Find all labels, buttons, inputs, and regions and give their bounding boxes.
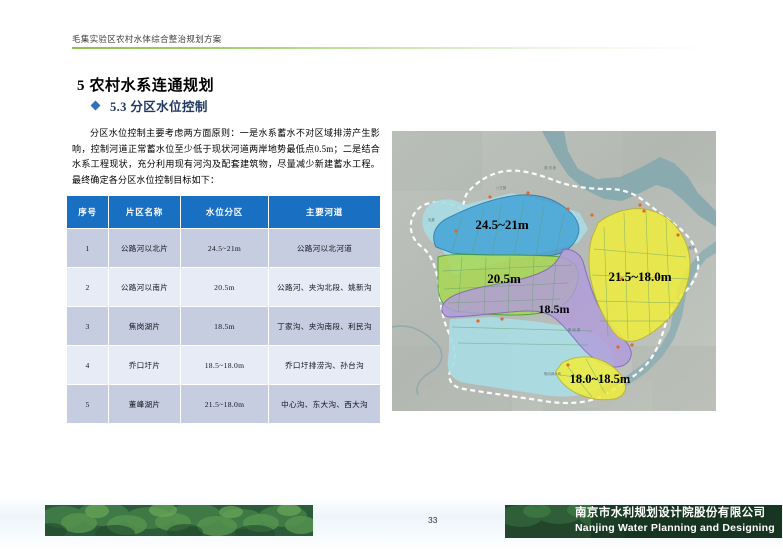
cell-name: 焦岗湖片 <box>109 307 181 346</box>
cell-level: 18.5m <box>181 307 269 346</box>
table-row: 2 公路河以南片 20.5m 公路河、夹沟北段、姚新沟 <box>67 268 381 307</box>
document-running-header: 毛集实验区农村水体综合整治规划方案 <box>72 33 712 49</box>
cell-no: 5 <box>67 385 109 424</box>
section-heading: 5 农村水系连通规划 <box>77 74 214 95</box>
cell-name: 董峰湖片 <box>109 385 181 424</box>
header-rule <box>72 47 712 49</box>
water-level-zone-table-wrapper: 序号 片区名称 水位分区 主要河道 1 公路河以北片 24.5~21m 公路河以… <box>66 195 380 424</box>
foliage-banner-left <box>45 505 313 536</box>
water-level-zone-table: 序号 片区名称 水位分区 主要河道 1 公路河以北片 24.5~21m 公路河以… <box>66 195 381 424</box>
cell-level: 18.5~18.0m <box>181 346 269 385</box>
zone-label-21-5-18-0m: 21.5~18.0m <box>608 269 671 284</box>
cell-rivers: 公路河以北河道 <box>269 229 381 268</box>
company-identity-block: 南京市水利规划设计院股份有限公司 Nanjing Water Planning … <box>575 506 780 535</box>
cell-rivers: 丁家沟、夹沟南段、利民沟 <box>269 307 381 346</box>
table-row: 1 公路河以北片 24.5~21m 公路河以北河道 <box>67 229 381 268</box>
cell-level: 21.5~18.0m <box>181 385 269 424</box>
running-title: 毛集实验区农村水体综合整治规划方案 <box>72 33 712 45</box>
zone-label-18-5m: 18.5m <box>539 302 570 316</box>
page-number: 33 <box>428 515 437 525</box>
zone-label-20-5m: 20.5m <box>487 271 521 286</box>
svg-text:淮 河 段: 淮 河 段 <box>544 165 557 170</box>
table-header-no: 序号 <box>67 196 109 229</box>
cell-rivers: 公路河、夹沟北段、姚新沟 <box>269 268 381 307</box>
table-header-level: 水位分区 <box>181 196 269 229</box>
cell-rivers: 乔口圩排涝沟、孙台沟 <box>269 346 381 385</box>
svg-text:焦 岗 湖: 焦 岗 湖 <box>568 327 581 332</box>
table-header-row: 序号 片区名称 水位分区 主要河道 <box>67 196 381 229</box>
cell-name: 公路河以北片 <box>109 229 181 268</box>
cell-name: 公路河以南片 <box>109 268 181 307</box>
table-row: 4 乔口圩片 18.5~18.0m 乔口圩排涝沟、孙台沟 <box>67 346 381 385</box>
cell-no: 1 <box>67 229 109 268</box>
cell-level: 24.5~21m <box>181 229 269 268</box>
table-row: 5 董峰湖片 21.5~18.0m 中心沟、东大沟、西大沟 <box>67 385 381 424</box>
subsection-heading: 5.3 分区水位控制 <box>110 96 208 115</box>
body-paragraph: 分区水位控制主要考虑两方面原则：一是水系蓄水不对区域排涝产生影响，控制河道正常蓄… <box>72 126 380 188</box>
table-header-name: 片区名称 <box>109 196 181 229</box>
company-name-en: Nanjing Water Planning and Designing <box>575 521 780 535</box>
cell-name: 乔口圩片 <box>109 346 181 385</box>
svg-text:淮河: 淮河 <box>688 245 695 250</box>
svg-text:焦岗湖水域: 焦岗湖水域 <box>544 371 562 376</box>
table-row: 3 焦岗湖片 18.5m 丁家沟、夹沟南段、利民沟 <box>67 307 381 346</box>
svg-text:毛集: 毛集 <box>428 217 435 222</box>
diamond-bullet-icon <box>91 101 101 111</box>
subsection-heading-row: 5.3 分区水位控制 <box>92 96 208 115</box>
zone-label-18-0-18-5m: 18.0~18.5m <box>570 372 631 386</box>
cell-no: 3 <box>67 307 109 346</box>
cell-no: 2 <box>67 268 109 307</box>
zone-label-24-5-21m: 24.5~21m <box>475 217 529 232</box>
table-header-rivers: 主要河道 <box>269 196 381 229</box>
cell-level: 20.5m <box>181 268 269 307</box>
svg-text:八王镇: 八王镇 <box>496 185 507 190</box>
water-level-zoning-map: 24.5~21m 20.5m 18.5m 21.5~18.0m 18.0~18.… <box>392 131 716 411</box>
cell-rivers: 中心沟、东大沟、西大沟 <box>269 385 381 424</box>
cell-no: 4 <box>67 346 109 385</box>
company-name-cn: 南京市水利规划设计院股份有限公司 <box>575 506 780 521</box>
